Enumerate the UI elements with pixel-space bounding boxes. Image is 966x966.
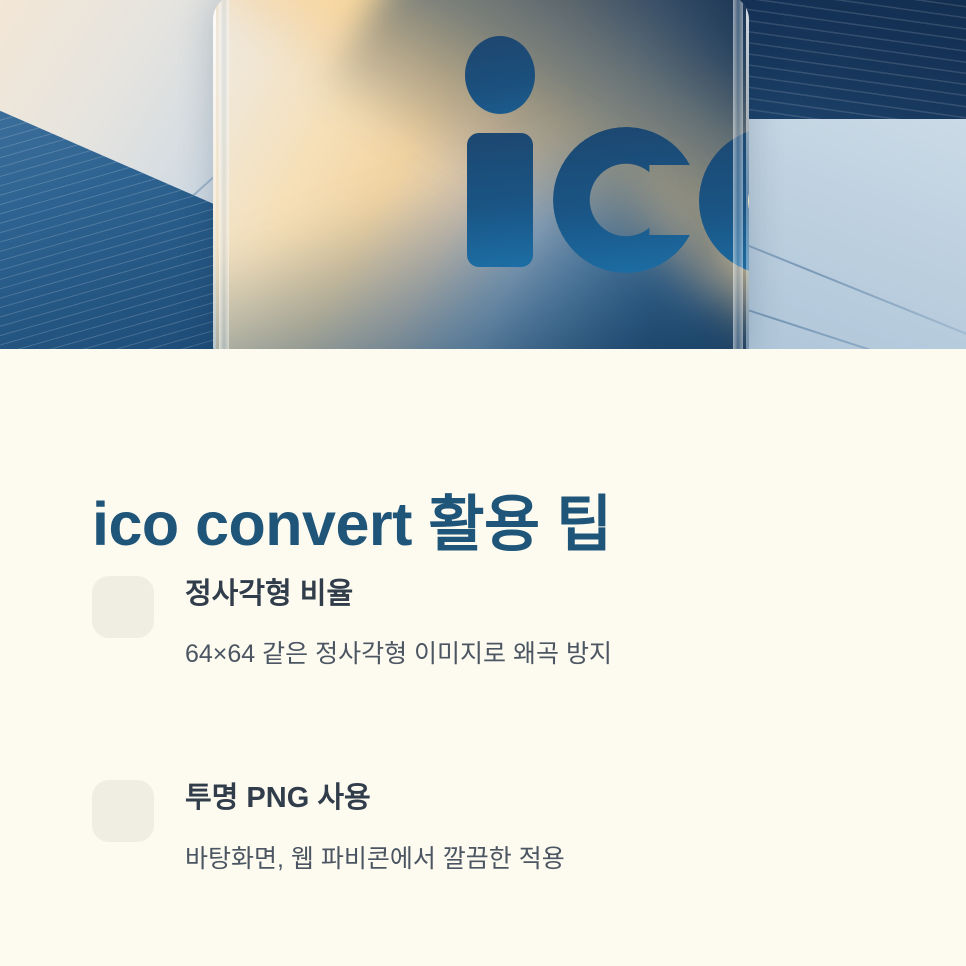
tips-card: ico convert 활용 팁 정사각형 비율 64×64 같은 정사각형 이…	[0, 0, 966, 966]
letter-i-stem-icon	[467, 133, 533, 267]
tip-heading: 투명 PNG 사용	[185, 780, 882, 816]
rounded-square-bullet-icon	[92, 780, 154, 842]
wordmark-clip	[213, 0, 749, 349]
list-item: 정사각형 비율 64×64 같은 정사각형 이미지로 왜곡 방지	[92, 576, 882, 672]
list-item: 투명 PNG 사용 바탕화면, 웹 파비콘에서 깔끔한 적용	[92, 780, 882, 876]
icon-wordmark	[461, 34, 749, 264]
tip-description: 바탕화면, 웹 파비콘에서 깔끔한 적용	[185, 842, 882, 877]
rounded-square-bullet-icon	[92, 576, 154, 638]
tips-list: 정사각형 비율 64×64 같은 정사각형 이미지로 왜곡 방지 투명 PNG …	[92, 574, 882, 877]
letter-i-dot-icon	[465, 36, 535, 114]
letter-c-icon	[553, 127, 699, 273]
glass-right-rail-decoration	[733, 0, 743, 349]
glass-right-edge-decoration	[746, 0, 749, 349]
content-area: ico convert 활용 팁 정사각형 비율 64×64 같은 정사각형 이…	[0, 349, 966, 966]
hero-image	[0, 0, 966, 349]
glass-panel	[213, 0, 749, 349]
tip-description: 64×64 같은 정사각형 이미지로 왜곡 방지	[185, 637, 882, 672]
glass-left-edge-decoration	[213, 0, 216, 349]
page-title: ico convert 활용 팁	[92, 494, 612, 555]
glass-left-rail-decoration	[219, 0, 229, 349]
tip-heading: 정사각형 비율	[185, 576, 882, 612]
